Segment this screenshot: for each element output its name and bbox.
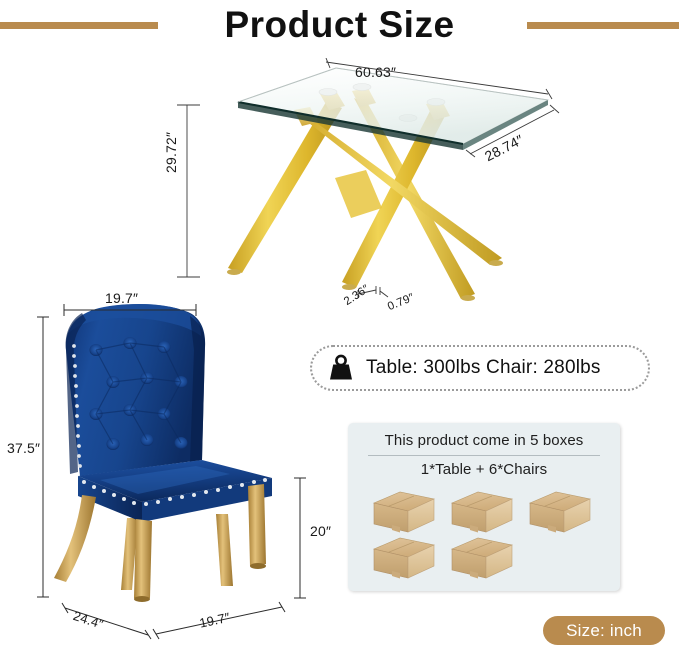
carton-grid: [366, 489, 602, 585]
table-height-label: 29.72″: [163, 132, 179, 173]
size-unit-badge: Size: inch: [543, 616, 665, 645]
table-length-label: 60.63″: [355, 64, 396, 80]
chair-illustration: 19.7″ 37.5″ 20″ 24.4″ 19.7″: [20, 290, 330, 640]
packaging-panel: This product come in 5 boxes 1*Table + 6…: [348, 423, 620, 591]
page-title: Product Size: [0, 0, 679, 50]
weight-capacity-text: Table: 300lbs Chair: 280lbs: [366, 357, 601, 379]
dimension-chair-seat-height: [294, 478, 306, 598]
chair-drawing: [20, 290, 330, 640]
chair-back: [66, 304, 205, 476]
weight-icon: [326, 353, 356, 383]
packaging-contents: 1*Table + 6*Chairs: [348, 461, 620, 478]
dimension-chair-height: [37, 317, 49, 597]
dimension-table-height: [177, 105, 200, 277]
carton-box: [370, 535, 438, 581]
carton-box: [448, 535, 516, 581]
chair-width-top-label: 19.7″: [105, 290, 138, 306]
header: Product Size: [0, 0, 679, 52]
chair-height-label: 37.5″: [7, 440, 40, 456]
packaging-title: This product come in 5 boxes: [348, 432, 620, 449]
weight-capacity-card: Table: 300lbs Chair: 280lbs: [310, 345, 650, 391]
table-drawing: [130, 58, 560, 313]
chair-seat-height-label: 20″: [310, 523, 331, 539]
packaging-divider: [368, 455, 600, 456]
carton-box: [526, 489, 594, 535]
carton-box: [448, 489, 516, 535]
table-illustration: 60.63″ 28.74″ 29.72″ 2.36″ 0.79″: [130, 58, 560, 313]
carton-box: [370, 489, 438, 535]
infographic-canvas: Product Size: [0, 0, 679, 652]
